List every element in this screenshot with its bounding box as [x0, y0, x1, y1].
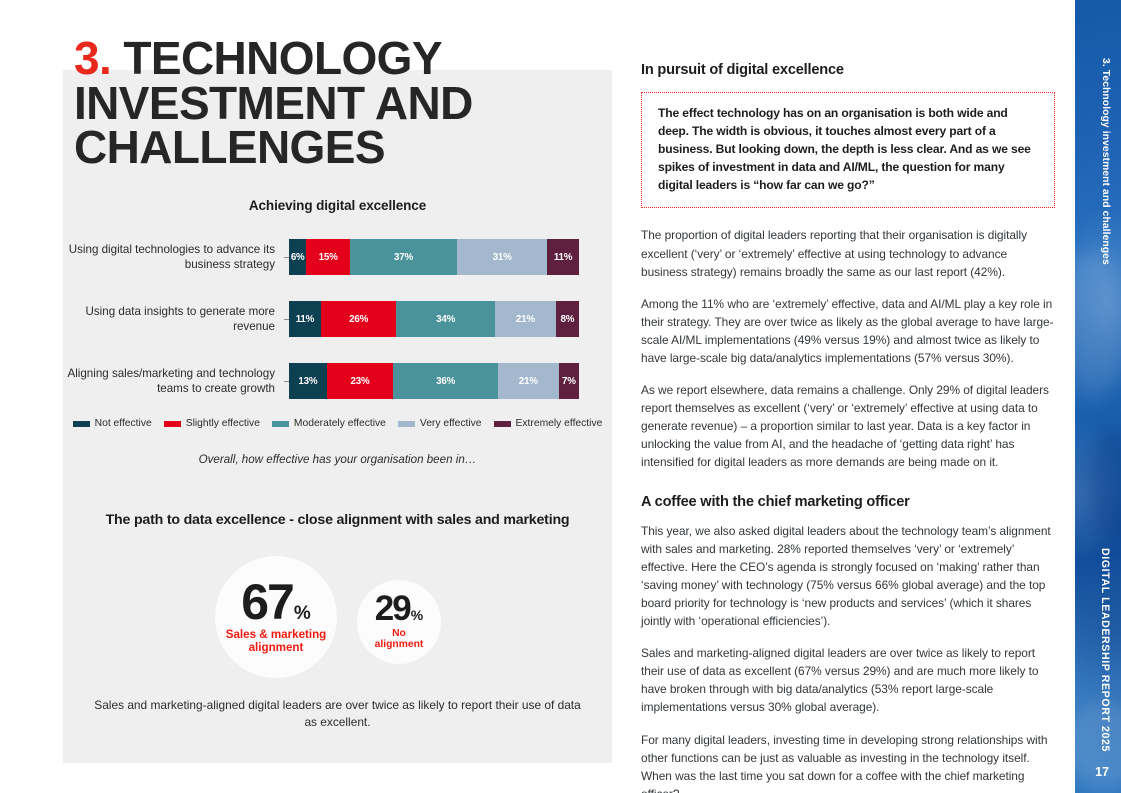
legend-swatch: [494, 421, 511, 427]
chart-row: Using digital technologies to advance it…: [63, 226, 612, 288]
chart-bar-segment: 15%: [306, 239, 350, 275]
page-title: 3. TECHNOLOGY INVESTMENT AND CHALLENGES: [74, 36, 614, 170]
stats-title: The path to data excellence - close alig…: [63, 512, 612, 528]
chart-row-label: Using digital technologies to advance it…: [63, 242, 281, 272]
stacked-bar-chart: Using digital technologies to advance it…: [63, 226, 612, 412]
chart-row: Aligning sales/marketing and technology …: [63, 350, 612, 412]
article-paragraph-5: Sales and marketing-aligned digital lead…: [641, 644, 1055, 716]
chart-bar-segment: 8%: [556, 301, 579, 337]
chart-bar: 6%15%37%31%11%: [289, 239, 579, 275]
legend-item: Moderately effective: [272, 418, 386, 429]
legend-item: Not effective: [73, 418, 152, 429]
chart-bar-segment: 37%: [350, 239, 457, 275]
legend-label: Slightly effective: [186, 418, 260, 429]
chart-bar-segment: 34%: [396, 301, 495, 337]
page-number: 17: [1095, 765, 1109, 779]
chart-row: Using data insights to generate more rev…: [63, 288, 612, 350]
sidebar-texture-blob: [1085, 430, 1121, 540]
legend-item: Slightly effective: [164, 418, 260, 429]
sidebar-report-label: DIGITAL LEADERSHIP REPORT 2025: [1099, 548, 1111, 752]
stat-circle: 29%Noalignment: [357, 580, 441, 664]
stat-caption: Sales & marketingalignment: [226, 628, 327, 654]
chart-row-label: Aligning sales/marketing and technology …: [63, 366, 281, 396]
article-paragraph-3: As we report elsewhere, data remains a c…: [641, 381, 1055, 471]
chart-bar: 13%23%36%21%7%: [289, 363, 579, 399]
chart-bar-segment: 26%: [321, 301, 396, 337]
chart-bar-segment: 21%: [495, 301, 556, 337]
stats-footnote: Sales and marketing-aligned digital lead…: [93, 697, 582, 731]
legend-label: Not effective: [95, 418, 152, 429]
chart-bar-segment: 7%: [559, 363, 579, 399]
stat-circle: 67%Sales & marketingalignment: [215, 556, 337, 678]
chart-bar-segment: 6%: [289, 239, 306, 275]
article-paragraph-4: This year, we also asked digital leaders…: [641, 522, 1055, 631]
chart-bar-segment: 31%: [457, 239, 547, 275]
right-sidebar: 3. Technology investment and challenges …: [1075, 0, 1121, 793]
stat-percent-symbol: %: [411, 607, 423, 623]
report-page: 3. TECHNOLOGY INVESTMENT AND CHALLENGES …: [0, 0, 1121, 793]
chart-bar: 11%26%34%21%8%: [289, 301, 579, 337]
article-paragraph-6: For many digital leaders, investing time…: [641, 731, 1055, 793]
article-heading-2: A coffee with the chief marketing office…: [641, 494, 1055, 510]
legend-label: Moderately effective: [294, 418, 386, 429]
legend-swatch: [272, 421, 289, 427]
legend-swatch: [398, 421, 415, 427]
stat-value: 67: [241, 580, 293, 625]
stat-caption: Noalignment: [375, 628, 424, 651]
legend-swatch: [73, 421, 90, 427]
stat-percent-symbol: %: [294, 603, 311, 625]
chart-bar-segment: 21%: [498, 363, 559, 399]
legend-item: Very effective: [398, 418, 482, 429]
pullquote-text: The effect technology has on an organisa…: [658, 105, 1040, 194]
chart-legend: Not effectiveSlightly effectiveModeratel…: [63, 418, 612, 429]
chart-footnote: Overall, how effective has your organisa…: [63, 453, 612, 466]
chart-bar-segment: 36%: [393, 363, 497, 399]
chart-bar-segment: 11%: [547, 239, 579, 275]
legend-swatch: [164, 421, 181, 427]
article-column: In pursuit of digital excellence The eff…: [641, 62, 1055, 793]
pullquote-box: The effect technology has on an organisa…: [641, 92, 1055, 208]
article-paragraph-2: Among the 11% who are ‘extremely’ effect…: [641, 295, 1055, 367]
section-title-line-3: CHALLENGES: [74, 121, 385, 173]
chart-bar-segment: 11%: [289, 301, 321, 337]
chart-row-label: Using data insights to generate more rev…: [63, 304, 281, 334]
stat-value-row: 29%: [375, 593, 423, 625]
chart-bar-segment: 23%: [327, 363, 394, 399]
article-paragraph-1: The proportion of digital leaders report…: [641, 226, 1055, 280]
legend-item: Extremely effective: [494, 418, 603, 429]
chart-bar-segment: 13%: [289, 363, 327, 399]
legend-label: Very effective: [420, 418, 482, 429]
article-heading-1: In pursuit of digital excellence: [641, 62, 1055, 78]
stat-circles: 67%Sales & marketingalignment29%Noalignm…: [63, 556, 612, 676]
sidebar-texture-blob: [1075, 250, 1121, 400]
sidebar-chapter-label: 3. Technology investment and challenges: [1100, 58, 1111, 265]
legend-label: Extremely effective: [516, 418, 603, 429]
stat-value-row: 67%: [241, 580, 311, 625]
chart-title: Achieving digital excellence: [63, 198, 612, 213]
stat-value: 29: [375, 593, 410, 625]
